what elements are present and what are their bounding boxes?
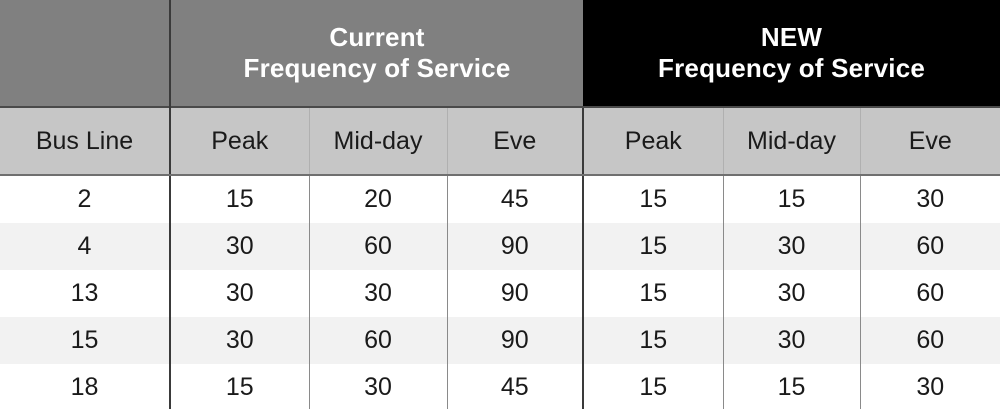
group-header-new-line1: NEW	[583, 22, 1000, 53]
cell-new-peak: 15	[583, 175, 723, 223]
cell-current-eve: 90	[447, 223, 583, 270]
cell-bus-line: 4	[0, 223, 170, 270]
cell-current-eve: 90	[447, 270, 583, 317]
column-header-current-peak: Peak	[170, 107, 309, 175]
group-header-new: NEW Frequency of Service	[583, 0, 1000, 107]
column-header-bus-line: Bus Line	[0, 107, 170, 175]
cell-new-midday: 30	[723, 270, 860, 317]
column-header-current-eve: Eve	[447, 107, 583, 175]
group-header-current: Current Frequency of Service	[170, 0, 583, 107]
cell-bus-line: 15	[0, 317, 170, 364]
column-header-current-midday: Mid-day	[309, 107, 447, 175]
cell-current-peak: 30	[170, 270, 309, 317]
group-header-current-line1: Current	[171, 22, 583, 53]
group-header-new-line2: Frequency of Service	[583, 53, 1000, 84]
column-header-new-eve: Eve	[860, 107, 1000, 175]
table-row: 2 15 20 45 15 15 30	[0, 175, 1000, 223]
cell-current-eve: 45	[447, 175, 583, 223]
cell-current-eve: 90	[447, 317, 583, 364]
cell-bus-line: 2	[0, 175, 170, 223]
group-header-blank-cell	[0, 0, 170, 107]
cell-current-peak: 15	[170, 175, 309, 223]
table-row: 15 30 60 90 15 30 60	[0, 317, 1000, 364]
cell-current-midday: 30	[309, 364, 447, 409]
cell-new-eve: 60	[860, 270, 1000, 317]
frequency-of-service-table: Current Frequency of Service NEW Frequen…	[0, 0, 1000, 409]
cell-current-peak: 30	[170, 223, 309, 270]
cell-current-peak: 15	[170, 364, 309, 409]
cell-new-midday: 15	[723, 364, 860, 409]
cell-new-eve: 60	[860, 317, 1000, 364]
cell-current-midday: 60	[309, 223, 447, 270]
table-row: 18 15 30 45 15 15 30	[0, 364, 1000, 409]
group-header-row: Current Frequency of Service NEW Frequen…	[0, 0, 1000, 107]
column-header-new-midday: Mid-day	[723, 107, 860, 175]
cell-current-midday: 30	[309, 270, 447, 317]
table-row: 13 30 30 90 15 30 60	[0, 270, 1000, 317]
cell-current-midday: 60	[309, 317, 447, 364]
frequency-of-service-table-container: Current Frequency of Service NEW Frequen…	[0, 0, 1000, 409]
cell-new-peak: 15	[583, 270, 723, 317]
group-header-current-line2: Frequency of Service	[171, 53, 583, 84]
cell-bus-line: 13	[0, 270, 170, 317]
column-header-row: Bus Line Peak Mid-day Eve Peak Mid-day E…	[0, 107, 1000, 175]
cell-new-midday: 15	[723, 175, 860, 223]
cell-bus-line: 18	[0, 364, 170, 409]
cell-new-peak: 15	[583, 317, 723, 364]
cell-new-eve: 30	[860, 364, 1000, 409]
column-header-new-peak: Peak	[583, 107, 723, 175]
cell-current-midday: 20	[309, 175, 447, 223]
table-body: 2 15 20 45 15 15 30 4 30 60 90 15 30 60 …	[0, 175, 1000, 409]
cell-new-midday: 30	[723, 223, 860, 270]
cell-new-peak: 15	[583, 223, 723, 270]
table-head: Current Frequency of Service NEW Frequen…	[0, 0, 1000, 175]
cell-new-eve: 60	[860, 223, 1000, 270]
cell-new-peak: 15	[583, 364, 723, 409]
cell-current-eve: 45	[447, 364, 583, 409]
table-row: 4 30 60 90 15 30 60	[0, 223, 1000, 270]
cell-current-peak: 30	[170, 317, 309, 364]
cell-new-midday: 30	[723, 317, 860, 364]
cell-new-eve: 30	[860, 175, 1000, 223]
